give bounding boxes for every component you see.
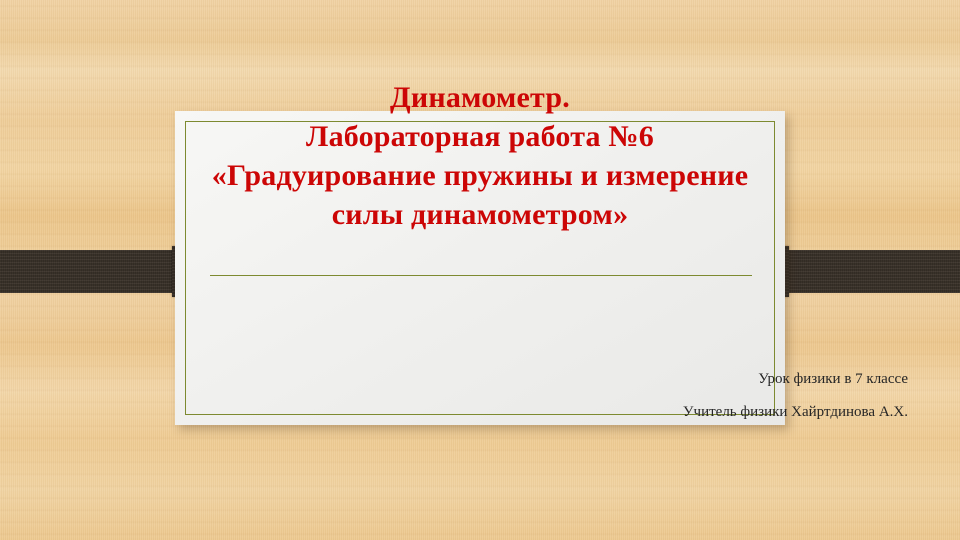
ribbon-band-left — [0, 250, 196, 293]
subtitle-author-line: Учитель физики Хайртдинова А.Х. — [683, 396, 908, 429]
subtitle-lesson-line: Урок физики в 7 классе — [683, 363, 908, 396]
slide-title: Динамометр. Лабораторная работа №6 «Град… — [120, 78, 840, 234]
title-line-2: Лабораторная работа №6 — [120, 117, 840, 156]
title-line-4: силы динамометром» — [120, 195, 840, 234]
title-line-3: «Градуирование пружины и измерение — [120, 156, 840, 195]
slide-subtitle: Урок физики в 7 классе Учитель физики Ха… — [683, 363, 908, 429]
presentation-slide: Динамометр. Лабораторная работа №6 «Град… — [0, 0, 960, 540]
title-divider-rule — [210, 275, 752, 276]
title-line-1: Динамометр. — [120, 78, 840, 117]
ribbon-band-right — [765, 250, 960, 293]
